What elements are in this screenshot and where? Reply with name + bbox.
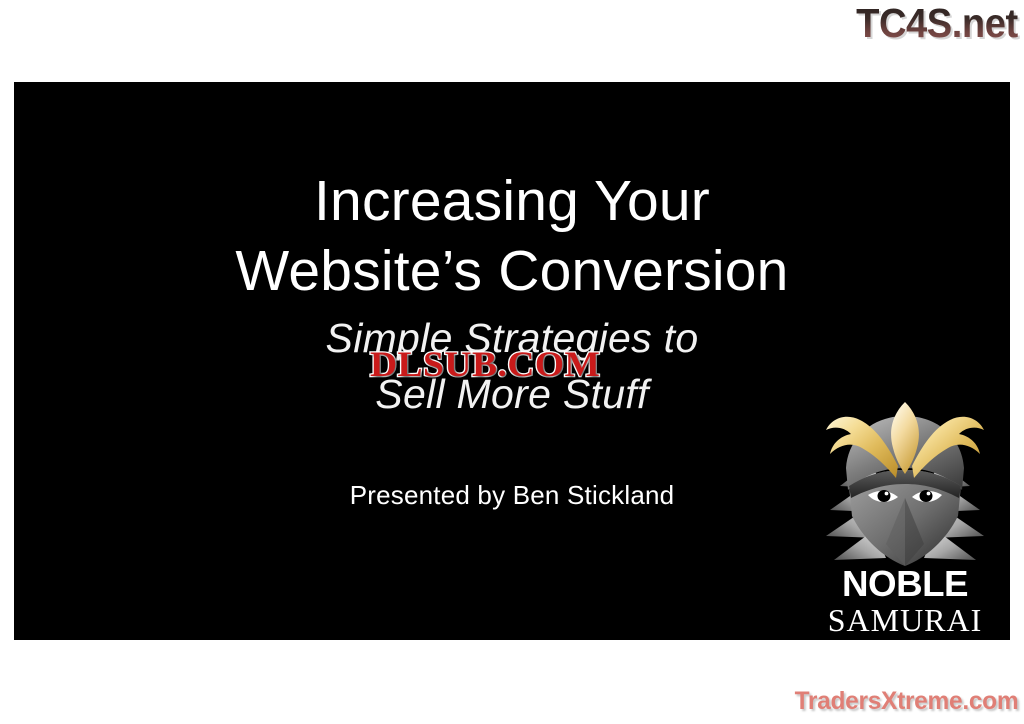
noble-samurai-logo: NOBLE SAMURAI xyxy=(816,394,994,632)
slide-title-line-1: Increasing Your xyxy=(14,166,1010,236)
slide-title: Increasing Your Website’s Conversion xyxy=(14,166,1010,306)
presentation-slide-page: TC4S.net TC4S.net Increasing Your Websit… xyxy=(0,0,1024,724)
tradersxtreme-watermark: TradersXtreme.com xyxy=(794,689,1018,714)
site-logo-tc4s: TC4S.net xyxy=(856,2,1018,45)
brand-word-noble: NOBLE xyxy=(814,566,996,602)
slide-canvas: Increasing Your Website’s Conversion Sim… xyxy=(14,82,1010,640)
brand-word-samurai: SAMURAI xyxy=(816,603,994,637)
dlsub-watermark: DLSUB.COM xyxy=(370,346,600,382)
samurai-helmet-icon xyxy=(816,394,994,566)
slide-title-line-2: Website’s Conversion xyxy=(14,236,1010,306)
